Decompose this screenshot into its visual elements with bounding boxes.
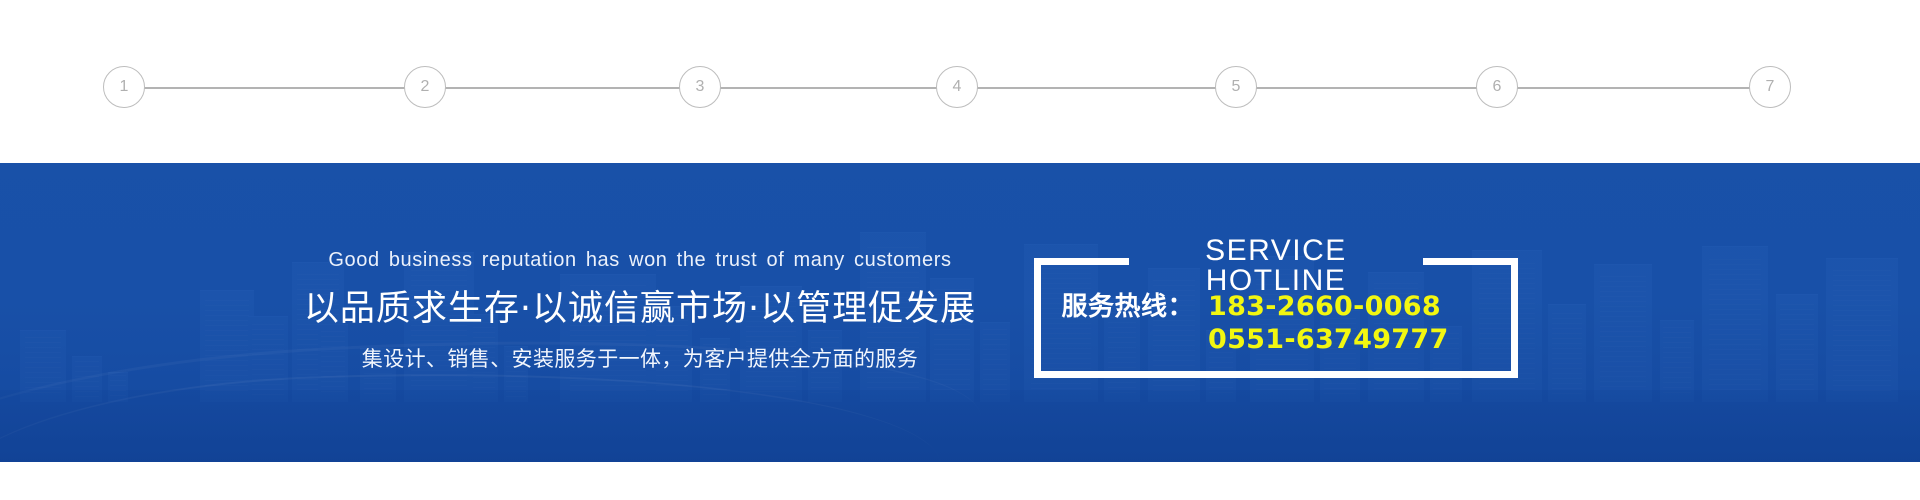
step-node-6[interactable]: 6 — [1476, 66, 1518, 108]
hotline-label: 服务热线： — [1042, 292, 1194, 324]
step-node-2[interactable]: 2 — [404, 66, 446, 108]
slogan-chinese-sub: 集设计、销售、安装服务于一体，为客户提供全方面的服务 — [300, 346, 980, 373]
hotline-number-secondary[interactable]: 0551-63749777 — [1208, 324, 1449, 357]
step-node-3[interactable]: 3 — [679, 66, 721, 108]
hotline-row-secondary: 服务热线： 0551-63749777 — [1042, 324, 1502, 357]
hotline-title: SERVICE HOTLINE — [1129, 236, 1423, 296]
step-node-4[interactable]: 4 — [936, 66, 978, 108]
hotline-row-primary: 服务热线： 183-2660-0068 — [1042, 291, 1502, 324]
hotline-number-primary[interactable]: 183-2660-0068 — [1208, 291, 1441, 324]
frame-border-top-left — [1034, 258, 1129, 265]
promo-banner: Good business reputation has won the tru… — [0, 163, 1920, 462]
frame-border-top-right — [1423, 258, 1518, 265]
step-node-7[interactable]: 7 — [1749, 66, 1791, 108]
step-indicator: 1234567 — [0, 0, 1920, 163]
step-node-5[interactable]: 5 — [1215, 66, 1257, 108]
hotline-numbers: 服务热线： 183-2660-0068 服务热线： 0551-63749777 — [1034, 291, 1518, 357]
slogan-chinese-main: 以品质求生存·以诚信赢市场·以管理促发展 — [300, 288, 980, 332]
frame-border-bottom — [1034, 371, 1518, 378]
service-hotline-box: SERVICE HOTLINE 服务热线： 183-2660-0068 服务热线… — [1034, 258, 1518, 378]
slogan-english: Good business reputation has won the tru… — [300, 248, 980, 272]
page-root: 1234567 — [0, 0, 1920, 500]
slogan-block: Good business reputation has won the tru… — [300, 248, 980, 373]
step-node-1[interactable]: 1 — [103, 66, 145, 108]
